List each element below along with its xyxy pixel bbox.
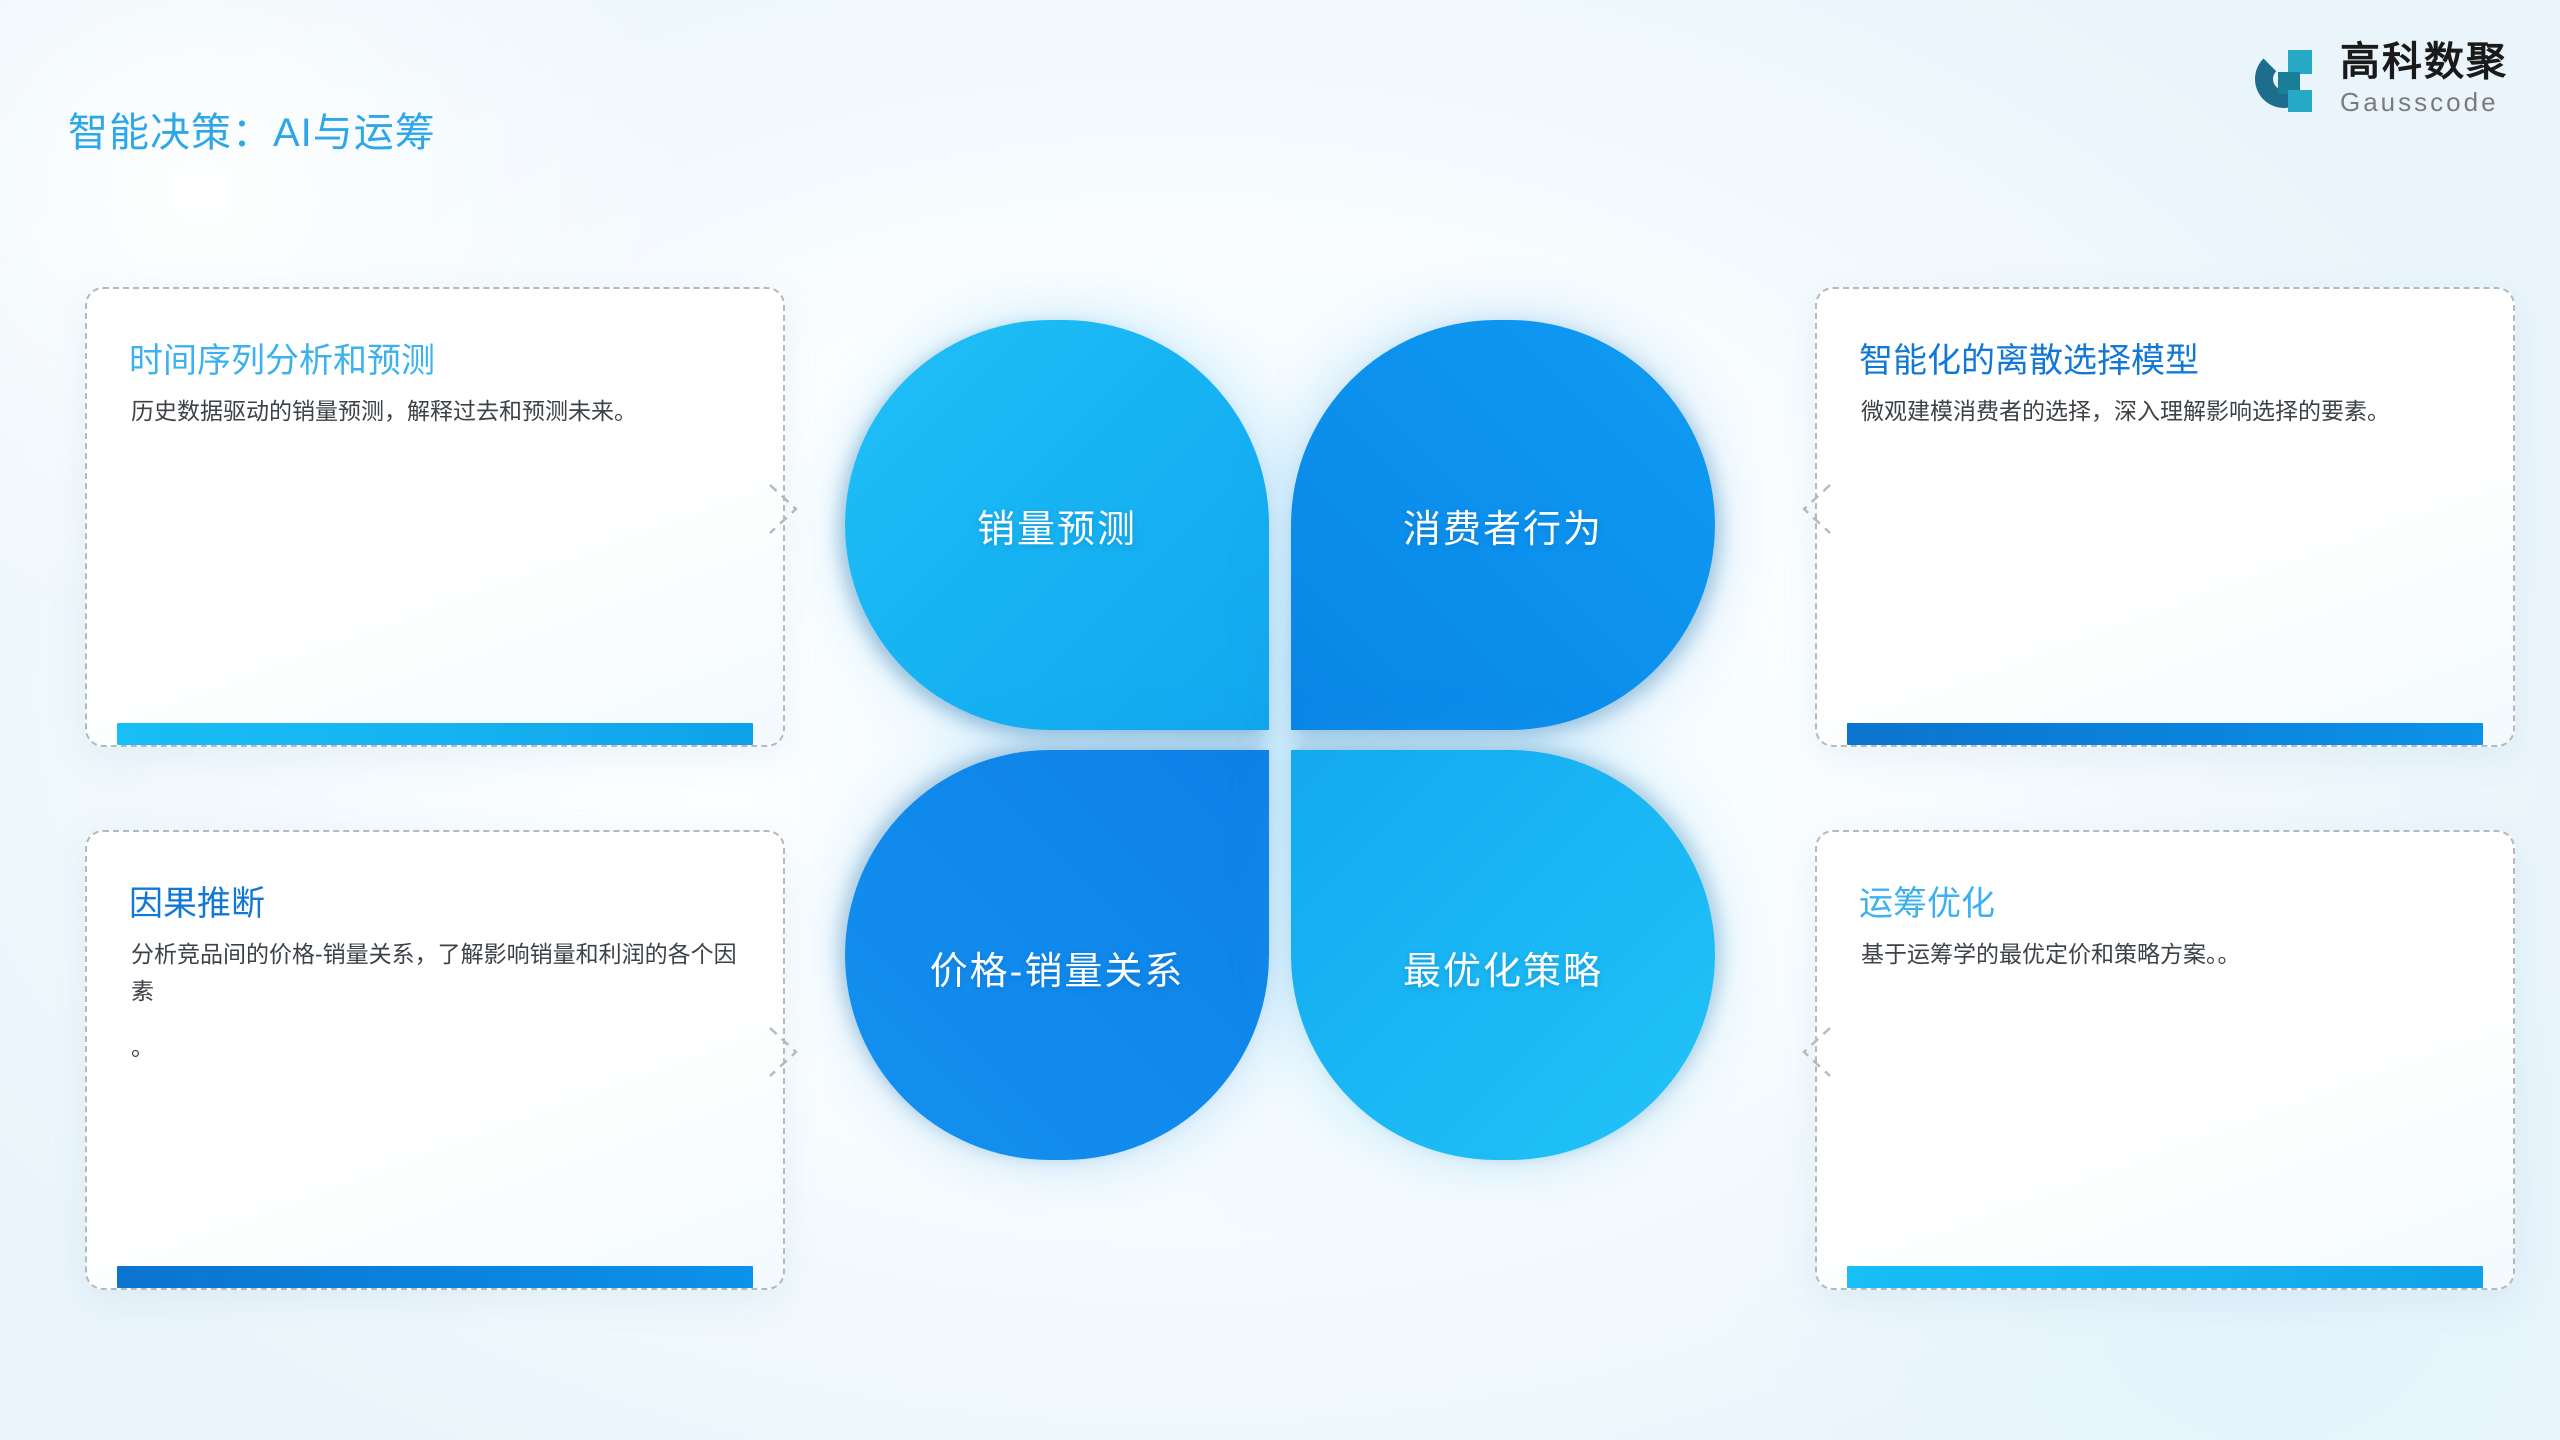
chevron-left-dashed-icon xyxy=(1794,479,1834,539)
card-accent-bar xyxy=(117,1266,753,1288)
chevron-right-dashed-icon xyxy=(766,479,806,539)
card-body: 历史数据驱动的销量预测，解释过去和预测未来。 xyxy=(131,393,737,430)
card-discrete-choice-model[interactable]: 智能化的离散选择模型 微观建模消费者的选择，深入理解影响选择的要素。 xyxy=(1815,287,2515,747)
card-accent-bar xyxy=(1847,723,2483,745)
petal-label: 销量预测 xyxy=(845,498,1269,553)
card-causal-inference[interactable]: 因果推断 分析竞品间的价格-销量关系，了解影响销量和利润的各个因素 。 xyxy=(85,830,785,1290)
gausscode-logo-mark-icon xyxy=(2248,46,2322,112)
four-petal-diagram: 销量预测 消费者行为 价格-销量关系 最优化策略 xyxy=(845,320,1715,1160)
card-operations-optimization[interactable]: 运筹优化 基于运筹学的最优定价和策略方案。。 xyxy=(1815,830,2515,1290)
card-title: 智能化的离散选择模型 xyxy=(1859,333,2199,382)
card-body-text: 基于运筹学的最优定价和策略方案。。 xyxy=(1861,941,2241,967)
card-body-tail: 。 xyxy=(131,1029,737,1066)
card-title: 时间序列分析和预测 xyxy=(129,333,435,382)
card-title: 运筹优化 xyxy=(1859,876,1995,925)
card-body: 分析竞品间的价格-销量关系，了解影响销量和利润的各个因素 。 xyxy=(131,936,737,1066)
petal-price-sales-relation[interactable]: 价格-销量关系 xyxy=(845,750,1269,1160)
card-body-text: 历史数据驱动的销量预测，解释过去和预测未来。 xyxy=(131,398,637,424)
petal-label: 最优化策略 xyxy=(1291,940,1715,995)
page-title: 智能决策：AI与运筹 xyxy=(68,100,436,158)
card-body: 基于运筹学的最优定价和策略方案。。 xyxy=(1861,936,2467,973)
chevron-left-dashed-icon xyxy=(1794,1022,1834,1082)
card-body-text: 分析竞品间的价格-销量关系，了解影响销量和利润的各个因素 xyxy=(131,941,737,1004)
petal-label: 消费者行为 xyxy=(1291,498,1715,553)
petal-label: 价格-销量关系 xyxy=(845,940,1269,995)
brand-logo: 高科数聚 Gausscode xyxy=(2248,42,2508,115)
petal-optimization-strategy[interactable]: 最优化策略 xyxy=(1291,750,1715,1160)
card-body: 微观建模消费者的选择，深入理解影响选择的要素。 xyxy=(1861,393,2467,430)
logo-english-name: Gausscode xyxy=(2340,89,2499,115)
card-time-series-analysis[interactable]: 时间序列分析和预测 历史数据驱动的销量预测，解释过去和预测未来。 xyxy=(85,287,785,747)
card-body-text: 微观建模消费者的选择，深入理解影响选择的要素。 xyxy=(1861,398,2390,424)
card-title: 因果推断 xyxy=(129,876,265,925)
petal-sales-forecast[interactable]: 销量预测 xyxy=(845,320,1269,730)
card-accent-bar xyxy=(117,723,753,745)
slide-canvas: 智能决策：AI与运筹 高科数聚 Gausscode 销量预测 消费者行为 价格-… xyxy=(0,0,2560,1440)
card-accent-bar xyxy=(1847,1266,2483,1288)
petal-consumer-behavior[interactable]: 消费者行为 xyxy=(1291,320,1715,730)
chevron-right-dashed-icon xyxy=(766,1022,806,1082)
logo-chinese-name: 高科数聚 xyxy=(2340,42,2508,82)
